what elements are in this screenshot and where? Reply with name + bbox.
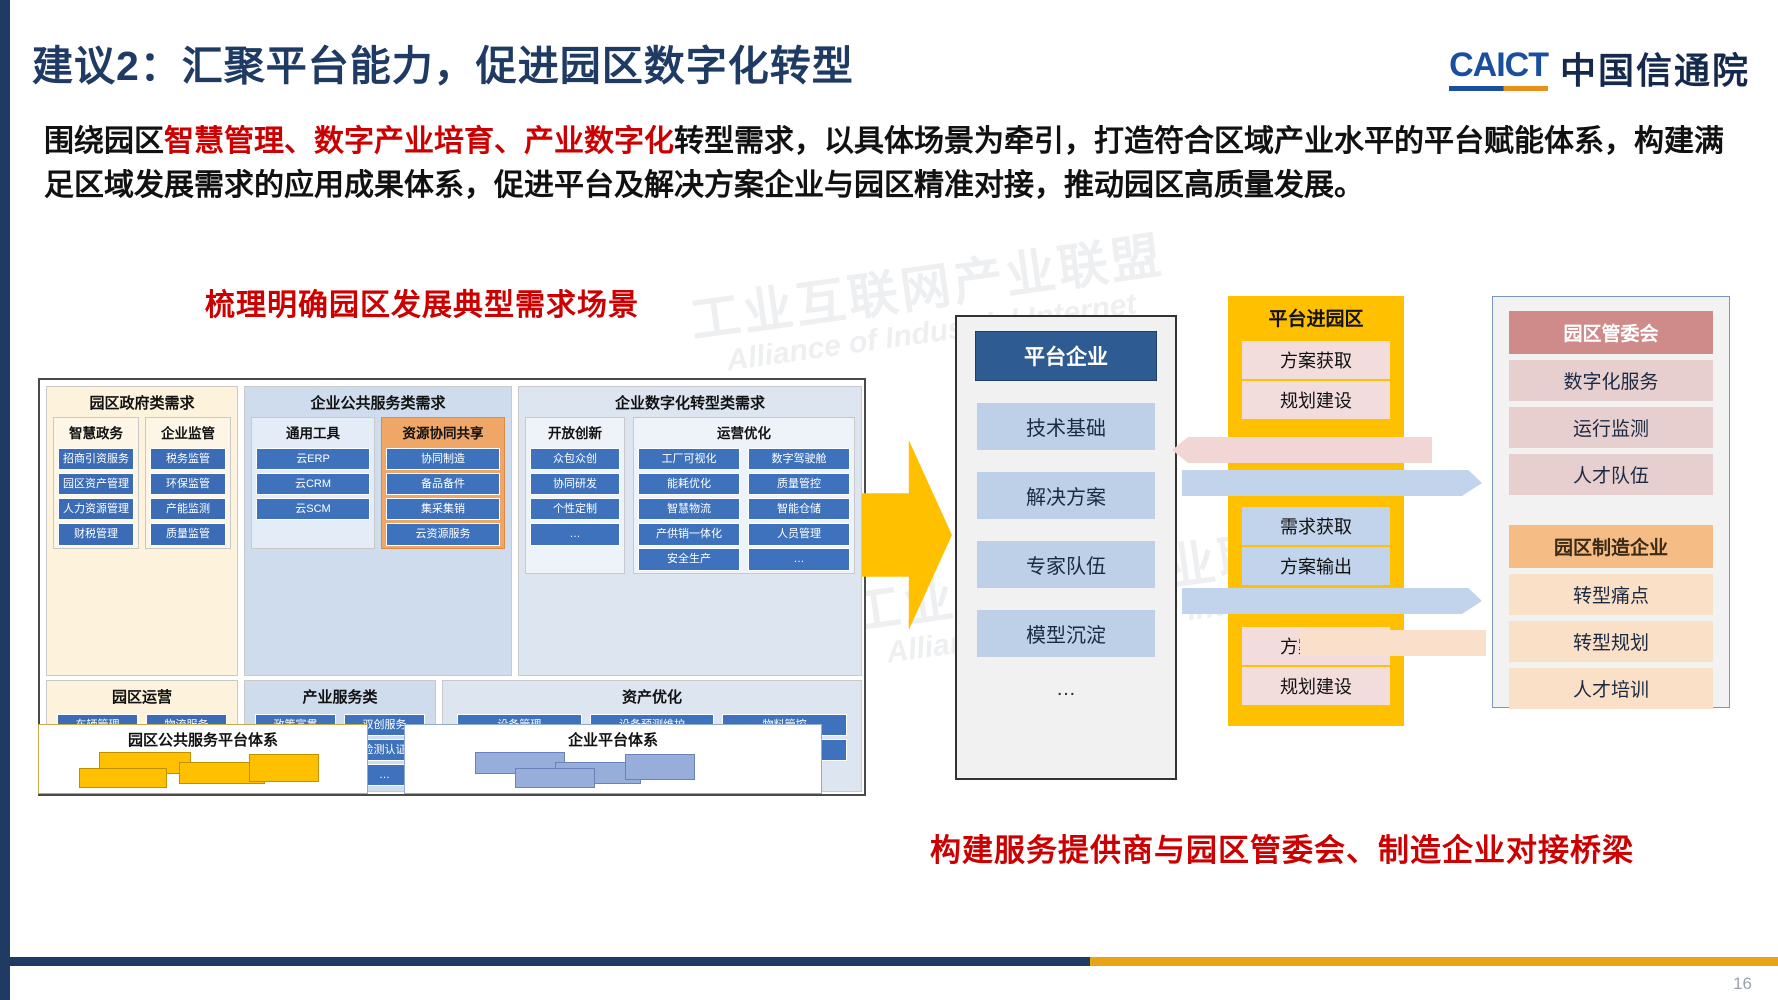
- stakeholder-row: 转型规划: [1509, 621, 1713, 662]
- chip: 协同研发: [530, 473, 620, 496]
- subgroup-operation-optimization: 运营优化 工厂可视化 能耗优化 智慧物流 产供销一体化 安全生产 数字驾驶舱 质…: [633, 417, 855, 574]
- chip: 云SCM: [256, 498, 370, 521]
- chip: 财税管理: [58, 523, 134, 546]
- chip: 人员管理: [748, 523, 850, 546]
- yellow-pill: 方案获取: [1242, 341, 1390, 379]
- flow-arrow-left-pink: [1172, 437, 1432, 463]
- chip: …: [748, 548, 850, 571]
- flow-arrow-right-blue-1: [1182, 470, 1482, 496]
- subgroup-title: 运营优化: [634, 418, 854, 445]
- logo-latin-text: CAICT: [1449, 46, 1548, 91]
- chip: 质量监管: [150, 523, 226, 546]
- chip: 安全生产: [638, 548, 740, 571]
- group-title: 产业服务类: [245, 681, 435, 711]
- stakeholder-row: 人才队伍: [1509, 454, 1713, 495]
- chip: 众包众创: [530, 448, 620, 471]
- public-service-platform-box: 园区公共服务平台体系: [38, 724, 368, 794]
- chip: 智慧物流: [638, 498, 740, 521]
- page-title: 建议2：汇聚平台能力，促进园区数字化转型: [32, 32, 854, 92]
- stacked-blocks-yellow: [39, 752, 367, 792]
- chip: 备品备件: [386, 473, 500, 496]
- flow-arrow-right-peach: [1300, 630, 1486, 656]
- box-title: 企业平台体系: [405, 725, 821, 750]
- chip: 云资源服务: [386, 523, 500, 546]
- slide-left-edge-bar: [0, 0, 10, 1000]
- box-title: 园区公共服务平台体系: [39, 725, 367, 750]
- platform-item: 技术基础: [977, 403, 1155, 450]
- yellow-pill: 规划建设: [1242, 667, 1390, 705]
- chip: 税务监管: [150, 448, 226, 471]
- platform-enterprise-column: 平台企业 技术基础 解决方案 专家队伍 模型沉淀 …: [955, 315, 1177, 780]
- subgroup-title: 智慧政务: [54, 418, 138, 445]
- chip: …: [530, 523, 620, 546]
- subgroup-common-tools: 通用工具 云ERP 云CRM 云SCM: [251, 417, 375, 549]
- stakeholder-row: 数字化服务: [1509, 360, 1713, 401]
- subgroup-enterprise-supervision: 企业监管 税务监管 环保监管 产能监测 质量监管: [145, 417, 231, 549]
- chip: 人力资源管理: [58, 498, 134, 521]
- footer-bar-orange: [1090, 957, 1778, 966]
- group-caption-park-manufacturers: 园区制造企业: [1509, 525, 1713, 568]
- stakeholder-row: 人才培训: [1509, 668, 1713, 709]
- chip: 招商引资服务: [58, 448, 134, 471]
- subgroup-title: 通用工具: [252, 418, 374, 445]
- platform-item: 专家队伍: [977, 541, 1155, 588]
- subgroup-resource-collaboration: 资源协同共享 协同制造 备品备件 集采集销 云资源服务: [381, 417, 505, 549]
- platform-into-park-column: 平台进园区 方案获取 规划建设 需求获取 方案输出 方案获取 规划建设: [1228, 296, 1404, 726]
- chip: 产供销一体化: [638, 523, 740, 546]
- group-digital-transformation-needs: 企业数字化转型类需求 开放创新 众包众创 协同研发 个性定制 … 运营优化 工厂…: [518, 386, 862, 676]
- platform-item: 模型沉淀: [977, 610, 1155, 657]
- subgroup-title: 企业监管: [146, 418, 230, 445]
- lead-paragraph: 围绕园区智慧管理、数字产业培育、产业数字化转型需求，以具体场景为牵引，打造符合区…: [44, 120, 1734, 207]
- page-number: 16: [1733, 974, 1752, 994]
- group-title: 企业数字化转型类需求: [519, 387, 861, 417]
- chip: 云ERP: [256, 448, 370, 471]
- group-caption-park-committee: 园区管委会: [1509, 311, 1713, 354]
- lead-highlight: 智慧管理、数字产业培育、产业数字化: [164, 125, 674, 158]
- chip: 产能监测: [150, 498, 226, 521]
- chip: 云CRM: [256, 473, 370, 496]
- stakeholder-row: 转型痛点: [1509, 574, 1713, 615]
- left-section-heading: 梳理明确园区发展典型需求场景: [205, 280, 639, 324]
- chip: 能耗优化: [638, 473, 740, 496]
- flow-arrow-right-blue-2: [1182, 588, 1482, 614]
- subgroup-title: 开放创新: [526, 418, 624, 445]
- park-stakeholders-column: 园区管委会 数字化服务 运行监测 人才队伍 园区制造企业 转型痛点 转型规划 人…: [1492, 296, 1730, 708]
- subgroup-smart-government: 智慧政务 招商引资服务 园区资产管理 人力资源管理 财税管理: [53, 417, 139, 549]
- footer-bar-blue: [0, 957, 1120, 966]
- lead-part-1: 围绕园区: [44, 125, 164, 158]
- platform-item-ellipsis: …: [977, 669, 1155, 710]
- group-government-needs: 园区政府类需求 智慧政务 招商引资服务 园区资产管理 人力资源管理 财税管理 企…: [46, 386, 238, 676]
- chip: 环保监管: [150, 473, 226, 496]
- chip: 智能仓储: [748, 498, 850, 521]
- stakeholder-row: 运行监测: [1509, 407, 1713, 448]
- caict-logo: CAICT 中国信通院: [1449, 42, 1750, 94]
- subgroup-title: 资源协同共享: [382, 418, 504, 445]
- column-header: 平台企业: [975, 331, 1157, 381]
- group-title: 资产优化: [443, 681, 861, 711]
- subgroup-open-innovation: 开放创新 众包众创 协同研发 个性定制 …: [525, 417, 625, 574]
- chip: 质量管控: [748, 473, 850, 496]
- flow-arrow-right-large: [862, 440, 952, 630]
- group-title: 园区政府类需求: [47, 387, 237, 417]
- slide-footer-bars: [0, 938, 1778, 1000]
- chip: 工厂可视化: [638, 448, 740, 471]
- column-header: 平台进园区: [1228, 296, 1404, 341]
- yellow-pill: 需求获取: [1242, 507, 1390, 545]
- bottom-callout-heading: 构建服务提供商与园区管委会、制造企业对接桥梁: [930, 825, 1634, 870]
- chip: 数字驾驶舱: [748, 448, 850, 471]
- chip: 集采集销: [386, 498, 500, 521]
- enterprise-platform-box: 企业平台体系: [404, 724, 822, 794]
- chip: 园区资产管理: [58, 473, 134, 496]
- yellow-pill: 规划建设: [1242, 381, 1390, 419]
- stacked-blocks-blue: [405, 752, 821, 792]
- chip: 协同制造: [386, 448, 500, 471]
- logo-chinese-text: 中国信通院: [1560, 42, 1750, 94]
- group-title: 园区运营: [47, 681, 237, 711]
- group-title: 企业公共服务类需求: [245, 387, 511, 417]
- platform-item: 解决方案: [977, 472, 1155, 519]
- group-public-service-needs: 企业公共服务类需求 通用工具 云ERP 云CRM 云SCM 资源协同共享 协同制…: [244, 386, 512, 676]
- chip: 个性定制: [530, 498, 620, 521]
- yellow-pill: 方案输出: [1242, 547, 1390, 585]
